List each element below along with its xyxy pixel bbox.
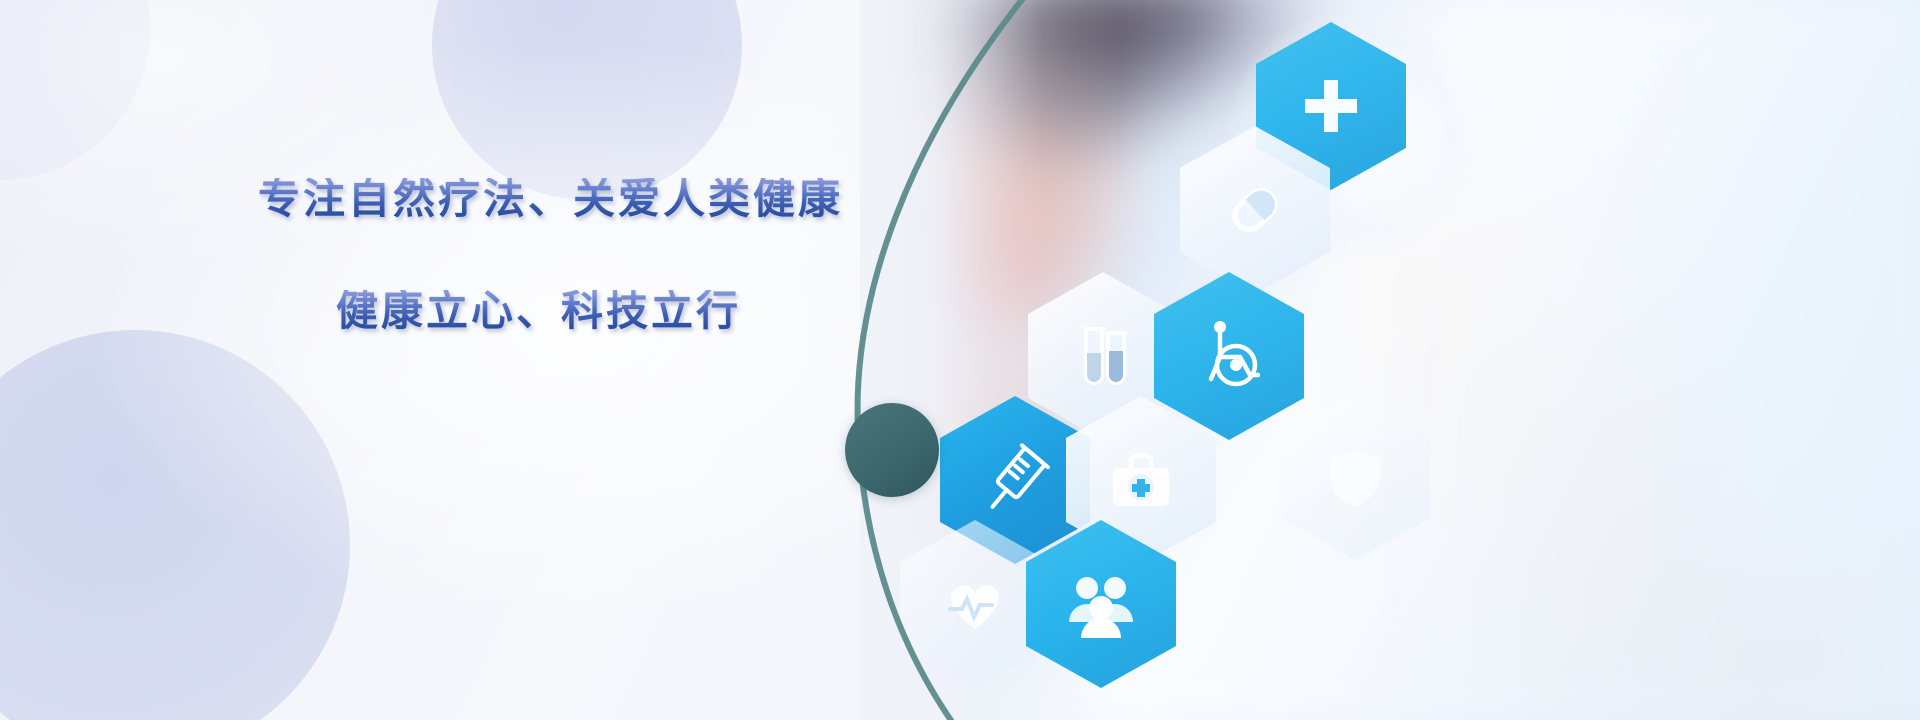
shield-icon: [1320, 441, 1390, 511]
syringe-icon: [972, 437, 1058, 523]
decorative-circle-top-center: [432, 0, 742, 200]
test-tubes-icon: [1064, 317, 1142, 395]
people-group-icon: [1059, 562, 1143, 646]
medical-cross-icon: [1297, 72, 1365, 140]
headline-line-2: 健康立心、科技立行: [336, 290, 898, 332]
decorative-circle-top-left: [0, 0, 150, 180]
heart-pulse-icon: [936, 565, 1014, 643]
headline-block: 专注自然疗法、关爱人类健康 健康立心、科技立行: [258, 178, 898, 332]
decorative-circle-bottom-left: [0, 330, 350, 720]
wheelchair-icon: [1190, 317, 1268, 395]
medical-kit-icon: [1101, 440, 1181, 520]
headline-line-1: 专注自然疗法、关爱人类健康: [258, 178, 898, 220]
hexagon-icon-cluster: [900, 0, 1460, 720]
hexagon-wheelchair: [1154, 272, 1304, 440]
promo-banner: 专注自然疗法、关爱人类健康 健康立心、科技立行: [0, 0, 1920, 720]
capsule-pill-icon: [1215, 170, 1295, 250]
hexagon-shield: [1280, 392, 1430, 560]
